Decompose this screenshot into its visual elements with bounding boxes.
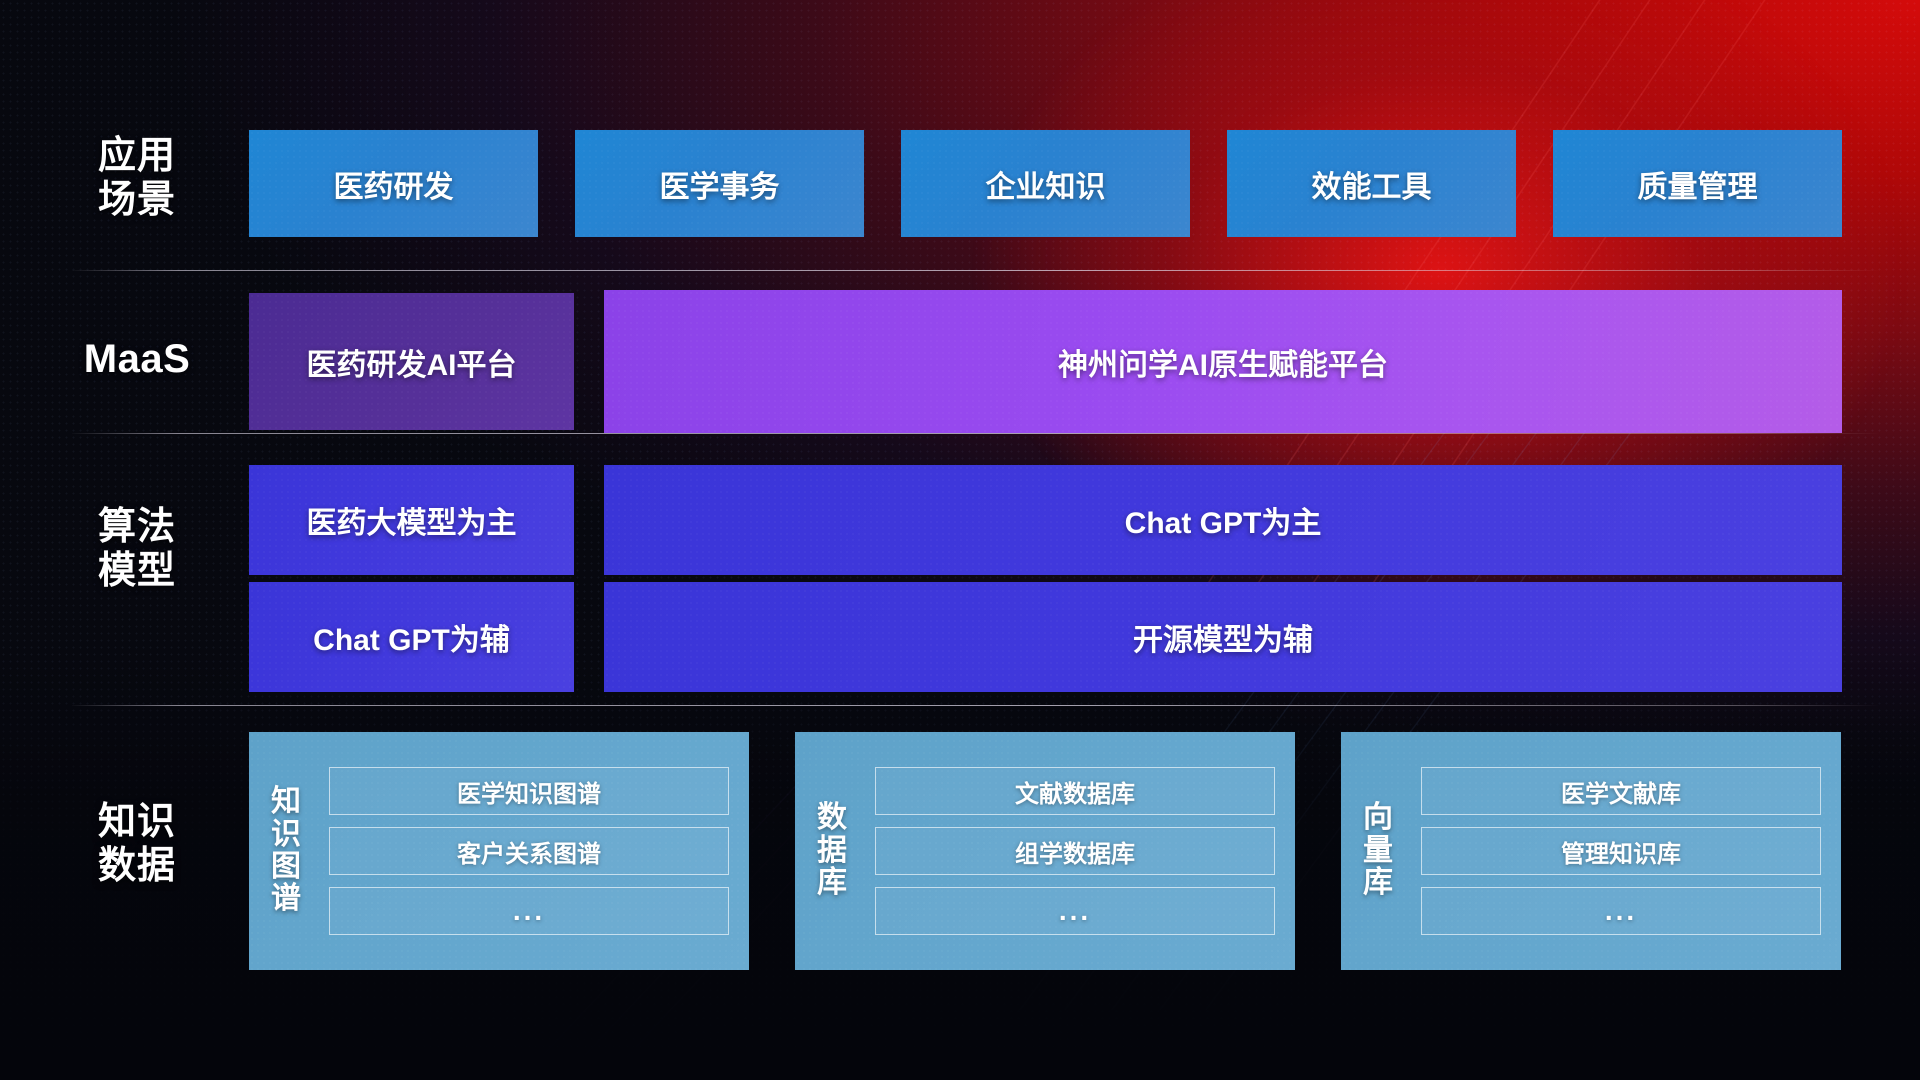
- scenario-box-quality-management[interactable]: 质量管理: [1553, 130, 1842, 237]
- scenario-box-label: 医药研发: [334, 162, 454, 206]
- scenario-box-drug-rnd[interactable]: 医药研发: [249, 130, 538, 237]
- divider-after-application-scenario: [72, 270, 1880, 271]
- scenario-box-label: 医学事务: [660, 162, 780, 206]
- knowledge-item-more[interactable]: ...: [1421, 887, 1821, 935]
- algorithm-box-chatgpt-secondary[interactable]: Chat GPT为辅: [249, 582, 574, 692]
- algorithm-box-opensource-secondary[interactable]: 开源模型为辅: [604, 582, 1842, 692]
- knowledge-item-more[interactable]: ...: [329, 887, 729, 935]
- algorithm-box-label: 开源模型为辅: [1133, 615, 1313, 659]
- knowledge-item-more[interactable]: ...: [875, 887, 1275, 935]
- row-label-line1: 应用: [72, 134, 202, 178]
- scenario-box-label: 企业知识: [986, 162, 1106, 206]
- divider-after-maas: [72, 433, 1880, 434]
- algorithm-box-chatgpt-primary[interactable]: Chat GPT为主: [604, 465, 1842, 575]
- maas-box-label: 神州问学AI原生赋能平台: [1058, 340, 1388, 384]
- knowledge-panel-vector-store[interactable]: 向量库 医学文献库 管理知识库 ...: [1341, 732, 1841, 970]
- algorithm-box-label: Chat GPT为主: [1125, 498, 1322, 542]
- algorithm-box-label: Chat GPT为辅: [313, 615, 510, 659]
- algorithm-box-drug-llm-primary[interactable]: 医药大模型为主: [249, 465, 574, 575]
- divider-after-algorithm-model: [72, 705, 1880, 706]
- knowledge-panel-title: 知识图谱: [249, 786, 323, 916]
- row-label-line2: 数据: [72, 844, 202, 888]
- knowledge-panel-title: 向量库: [1341, 802, 1415, 899]
- maas-box-shenzhou-wenxue-platform[interactable]: 神州问学AI原生赋能平台: [604, 290, 1842, 433]
- scenario-box-label: 效能工具: [1312, 162, 1432, 206]
- knowledge-panel-title: 数据库: [795, 802, 869, 899]
- scenario-box-efficiency-tools[interactable]: 效能工具: [1227, 130, 1516, 237]
- knowledge-item[interactable]: 医学文献库: [1421, 767, 1821, 815]
- row-label-line2: 模型: [72, 549, 202, 593]
- algorithm-box-label: 医药大模型为主: [307, 498, 517, 542]
- row-label-line1: 算法: [72, 505, 202, 549]
- architecture-diagram: 应用 场景 医药研发 医学事务 企业知识 效能工具 质量管理 MaaS 医药研发…: [0, 0, 1920, 1080]
- scenario-box-medical-affairs[interactable]: 医学事务: [575, 130, 864, 237]
- knowledge-item[interactable]: 医学知识图谱: [329, 767, 729, 815]
- knowledge-item[interactable]: 组学数据库: [875, 827, 1275, 875]
- row-label-text: MaaS: [72, 336, 202, 382]
- scenario-box-label: 质量管理: [1638, 162, 1758, 206]
- maas-box-label: 医药研发AI平台: [307, 340, 517, 384]
- scenario-box-enterprise-knowledge[interactable]: 企业知识: [901, 130, 1190, 237]
- row-label-knowledge-data: 知识 数据: [72, 800, 202, 888]
- knowledge-item[interactable]: 客户关系图谱: [329, 827, 729, 875]
- knowledge-panel-knowledge-graph[interactable]: 知识图谱 医学知识图谱 客户关系图谱 ...: [249, 732, 749, 970]
- row-label-line1: 知识: [72, 800, 202, 844]
- row-label-application-scenario: 应用 场景: [72, 134, 202, 222]
- knowledge-item[interactable]: 文献数据库: [875, 767, 1275, 815]
- row-label-line2: 场景: [72, 178, 202, 222]
- row-label-maas: MaaS: [72, 336, 202, 382]
- maas-box-drug-rnd-ai-platform[interactable]: 医药研发AI平台: [249, 293, 574, 430]
- row-label-algorithm-model: 算法 模型: [72, 505, 202, 593]
- knowledge-item[interactable]: 管理知识库: [1421, 827, 1821, 875]
- knowledge-panel-database[interactable]: 数据库 文献数据库 组学数据库 ...: [795, 732, 1295, 970]
